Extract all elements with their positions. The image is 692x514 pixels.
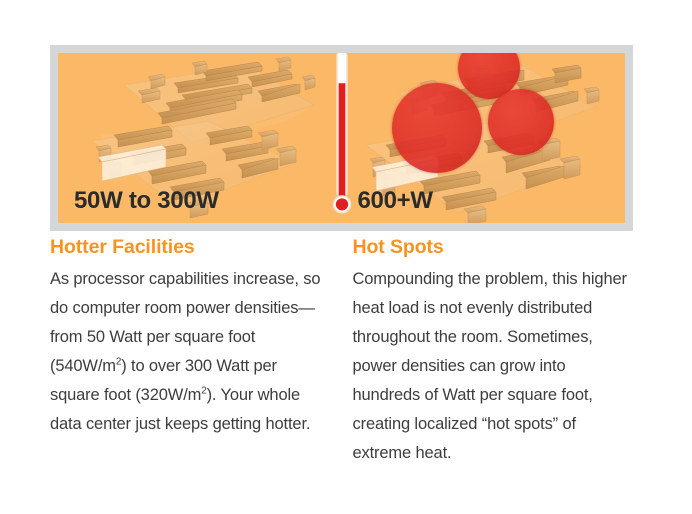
text-columns: Hotter Facilities As processor capabilit… <box>50 236 633 468</box>
column-hot-spots: Hot Spots Compounding the problem, this … <box>353 236 634 468</box>
panel-hotter-facilities: 50W to 300W <box>58 53 342 223</box>
column-body: Compounding the problem, this higher hea… <box>353 265 634 468</box>
column-heading: Hot Spots <box>353 236 634 259</box>
watt-label-right: 600+W <box>358 187 433 215</box>
thermometer-icon <box>331 53 353 221</box>
panel-hot-spots: 600+W <box>342 53 626 223</box>
hotspot-circle <box>392 83 482 173</box>
column-hotter-facilities: Hotter Facilities As processor capabilit… <box>50 236 331 468</box>
illustration-panels: 50W to 300W <box>58 53 625 223</box>
column-heading: Hotter Facilities <box>50 236 331 259</box>
illustration-frame: 50W to 300W <box>50 45 633 231</box>
watt-label-left: 50W to 300W <box>74 187 219 215</box>
hotspot-circle <box>488 89 554 155</box>
column-body: As processor capabilities increase, so d… <box>50 265 331 439</box>
